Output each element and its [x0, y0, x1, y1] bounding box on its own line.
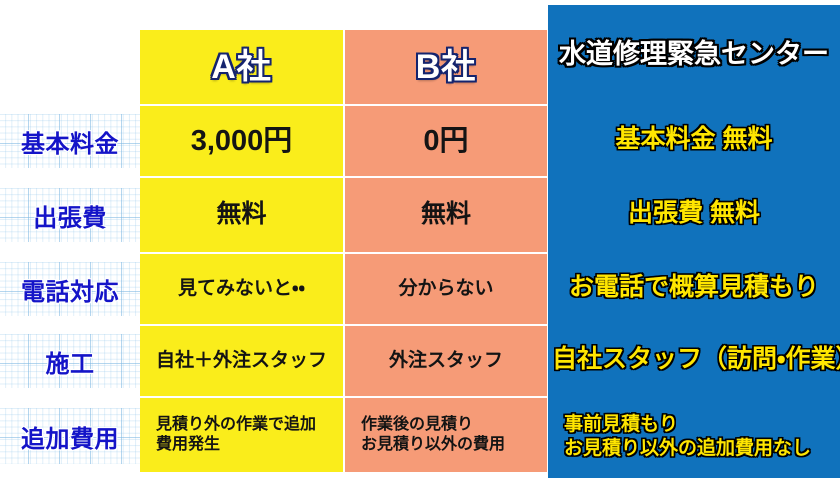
cell-a-basic-fee-text: 3,000円: [140, 123, 343, 159]
cell-a-extra-cost-text: 見積り外の作業で追加 費用発生: [140, 415, 343, 455]
row-label-text: 追加費用: [21, 419, 119, 454]
row-label-extra-cost: 追加費用: [0, 398, 140, 474]
cell-a-phone-support: 見てみないと・・: [140, 254, 343, 324]
cell-b-construction-text: 外注スタッフ: [345, 349, 547, 373]
row-label-text: 電話対応: [21, 272, 119, 307]
cell-a-phone-support-text: 見てみないと・・: [140, 277, 343, 301]
cell-a-extra-cost-line2: 費用発生: [156, 435, 339, 455]
cell-own-trip-fee-text: 出張費 無料: [548, 198, 840, 229]
row-label-phone-support: 電話対応: [0, 254, 140, 324]
cell-own-phone-support: お電話で概算見積もり: [548, 252, 840, 324]
row-label-trip-fee: 出張費: [0, 178, 140, 252]
cell-own-construction-text: 自社スタッフ（訪問・作業）: [548, 344, 840, 375]
own-column-header-label: 水道修理緊急センター: [548, 38, 840, 72]
cell-a-trip-fee-text: 無料: [140, 199, 343, 230]
comparison-table: 基本料金 出張費 電話対応 施工 追加費用 A社 3,000円 無料: [0, 0, 840, 500]
cell-a-basic-fee: 3,000円: [140, 106, 343, 176]
cell-own-extra-cost-line1: 事前見積もり: [564, 413, 836, 437]
cell-own-phone-support-text: お電話で概算見積もり: [548, 272, 840, 303]
column-a-header: A社: [140, 30, 343, 104]
cell-b-extra-cost-text: 作業後の見積り お見積り以外の費用: [345, 415, 547, 455]
row-label-construction: 施工: [0, 326, 140, 396]
cell-b-extra-cost-line2: お見積り以外の費用: [361, 435, 543, 455]
cell-own-basic-fee-text: 基本料金 無料: [548, 124, 840, 155]
cell-a-construction: 自社＋外注スタッフ: [140, 326, 343, 396]
row-label-basic-fee: 基本料金: [0, 106, 140, 176]
cell-own-construction: 自社スタッフ（訪問・作業）: [548, 324, 840, 396]
cell-b-extra-cost-line1: 作業後の見積り: [361, 415, 543, 435]
row-label-text: 基本料金: [21, 124, 119, 159]
cell-b-phone-support-text: 分からない: [345, 277, 547, 301]
column-a-header-label: A社: [140, 46, 343, 89]
cell-own-extra-cost: 事前見積もり お見積り以外の追加費用なし: [548, 396, 840, 478]
cell-own-extra-cost-line2: お見積り以外の追加費用なし: [564, 437, 836, 461]
cell-a-trip-fee: 無料: [140, 178, 343, 252]
column-b-header-label: B社: [345, 46, 547, 89]
cell-own-trip-fee: 出張費 無料: [548, 176, 840, 252]
cell-own-extra-cost-text: 事前見積もり お見積り以外の追加費用なし: [548, 413, 840, 461]
cell-a-extra-cost-line1: 見積り外の作業で追加: [156, 415, 339, 435]
cell-b-basic-fee: 0円: [345, 106, 547, 176]
cell-a-extra-cost: 見積り外の作業で追加 費用発生: [140, 398, 343, 472]
row-label-text: 施工: [46, 344, 95, 379]
cell-a-construction-text: 自社＋外注スタッフ: [140, 349, 343, 373]
cell-b-extra-cost: 作業後の見積り お見積り以外の費用: [345, 398, 547, 472]
row-label-text: 出張費: [33, 198, 107, 233]
row-label-column: 基本料金 出張費 電話対応 施工 追加費用: [0, 0, 140, 500]
own-column-header: 水道修理緊急センター: [548, 5, 840, 104]
cell-b-phone-support: 分からない: [345, 254, 547, 324]
column-b-header: B社: [345, 30, 547, 104]
cell-b-trip-fee: 無料: [345, 178, 547, 252]
cell-b-trip-fee-text: 無料: [345, 199, 547, 230]
cell-b-construction: 外注スタッフ: [345, 326, 547, 396]
cell-own-basic-fee: 基本料金 無料: [548, 104, 840, 176]
cell-b-basic-fee-text: 0円: [345, 123, 547, 159]
